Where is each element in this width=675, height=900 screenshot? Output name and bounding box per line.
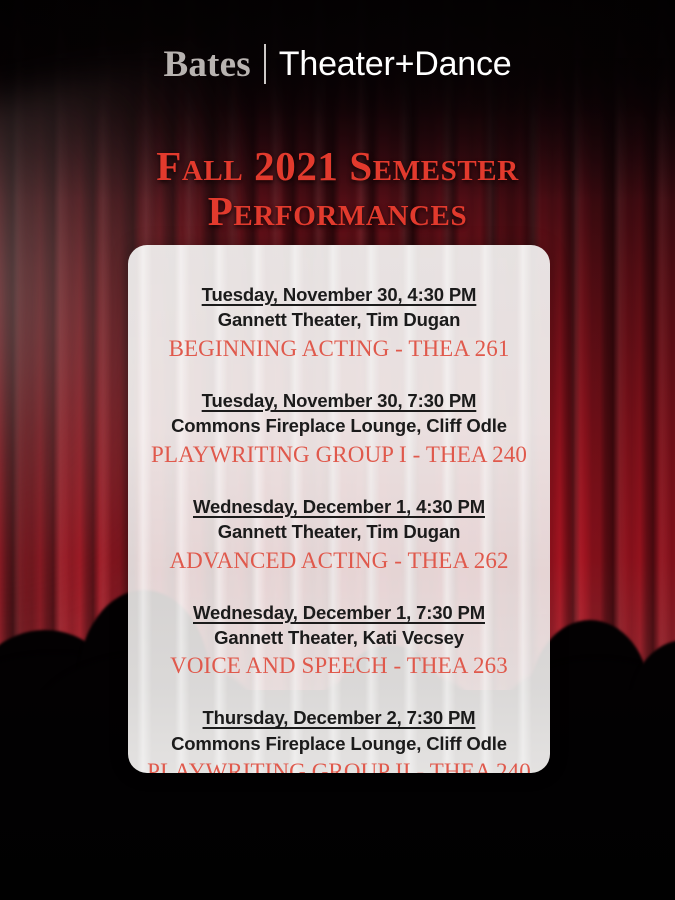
poster: Bates Theater+Dance Fall 2021 Semester P… xyxy=(0,0,675,900)
list-item: Tuesday, November 30, 7:30 PM Commons Fi… xyxy=(142,389,536,469)
event-course: PLAYWRITING GROUP II - THEA 240 xyxy=(142,758,536,773)
event-datetime-text: Wednesday, December 1, 7:30 PM xyxy=(193,602,485,623)
list-item: Wednesday, December 1, 4:30 PM Gannett T… xyxy=(142,495,536,575)
event-datetime: Wednesday, December 1, 7:30 PM xyxy=(142,601,536,625)
list-item: Thursday, December 2, 7:30 PM Commons Fi… xyxy=(142,706,536,773)
logo-divider-icon xyxy=(264,44,266,84)
event-datetime: Tuesday, November 30, 4:30 PM xyxy=(142,283,536,307)
event-course: BEGINNING ACTING - THEA 261 xyxy=(142,335,536,363)
event-course: PLAYWRITING GROUP I - THEA 240 xyxy=(142,441,536,469)
performance-schedule-card: Tuesday, November 30, 4:30 PM Gannett Th… xyxy=(128,245,550,773)
event-course: VOICE AND SPEECH - THEA 263 xyxy=(142,652,536,680)
event-venue: Gannett Theater, Tim Dugan xyxy=(142,308,536,332)
event-venue: Gannett Theater, Kati Vecsey xyxy=(142,626,536,650)
event-datetime: Tuesday, November 30, 7:30 PM xyxy=(142,389,536,413)
event-datetime: Thursday, December 2, 7:30 PM xyxy=(142,706,536,730)
list-item: Wednesday, December 1, 7:30 PM Gannett T… xyxy=(142,601,536,681)
page-title-line-2: Performances xyxy=(0,189,675,233)
event-venue: Commons Fireplace Lounge, Cliff Odle xyxy=(142,732,536,756)
event-venue: Gannett Theater, Tim Dugan xyxy=(142,520,536,544)
page-title-line-1: Fall 2021 Semester xyxy=(156,143,519,189)
event-datetime: Wednesday, December 1, 4:30 PM xyxy=(142,495,536,519)
event-datetime-text: Wednesday, December 1, 4:30 PM xyxy=(193,496,485,517)
logo-brand-text: Bates xyxy=(163,46,250,83)
logo-department-text: Theater+Dance xyxy=(279,47,512,81)
event-datetime-text: Tuesday, November 30, 4:30 PM xyxy=(202,284,477,305)
bates-theater-dance-logo: Bates Theater+Dance xyxy=(0,44,675,84)
schedule-list: Tuesday, November 30, 4:30 PM Gannett Th… xyxy=(128,245,550,773)
event-course: ADVANCED ACTING - THEA 262 xyxy=(142,547,536,575)
page-title: Fall 2021 Semester Performances xyxy=(0,144,675,233)
event-datetime-text: Tuesday, November 30, 7:30 PM xyxy=(202,390,477,411)
event-venue: Commons Fireplace Lounge, Cliff Odle xyxy=(142,414,536,438)
list-item: Tuesday, November 30, 4:30 PM Gannett Th… xyxy=(142,283,536,363)
event-datetime-text: Thursday, December 2, 7:30 PM xyxy=(203,707,476,728)
